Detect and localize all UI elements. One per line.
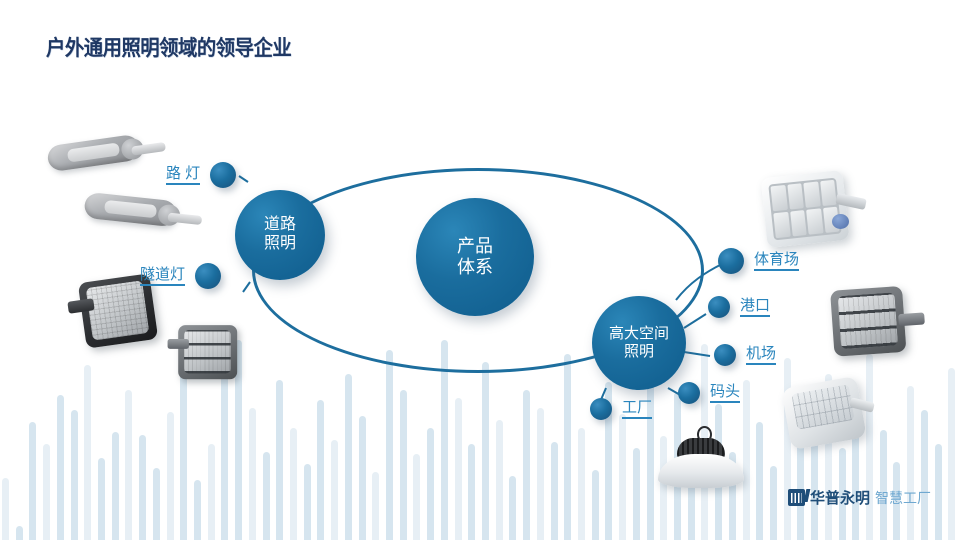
flood-light-icon	[162, 320, 245, 391]
branch-node-label: 高大空间 照明	[609, 325, 669, 360]
logo-company-name: 华普永明	[810, 487, 870, 508]
flood-light-icon	[816, 285, 913, 365]
branch-node-high-bay-lighting[interactable]: 高大空间 照明	[592, 296, 686, 390]
sub-item-label: 路 灯	[166, 165, 200, 185]
bullet-dot-icon	[678, 382, 700, 404]
sub-item-label: 工厂	[622, 399, 652, 419]
bullet-dot-icon	[210, 162, 236, 188]
page-title: 户外通用照明领域的领导企业	[46, 32, 291, 62]
bullet-dot-icon	[590, 398, 612, 420]
product-high-bay-light	[658, 424, 744, 492]
center-node-label: 产品 体系	[457, 236, 493, 278]
ufo-high-bay-icon	[658, 424, 744, 492]
building-bars-icon	[788, 489, 805, 506]
sub-item-label: 隧道灯	[140, 266, 185, 286]
product-white-flood-light	[782, 378, 878, 454]
slide-canvas: 户外通用照明领域的领导企业 产品 体系 道路 照明 高大空间 照明 路 灯 隧道…	[0, 0, 960, 540]
product-gray-flood-light	[816, 285, 913, 365]
flood-light-icon	[782, 378, 878, 454]
sub-item-label: 码头	[710, 383, 740, 403]
sub-item-label: 港口	[740, 297, 770, 317]
sub-item-high-bay-port[interactable]: 港口	[708, 296, 770, 318]
sub-item-high-bay-wharf[interactable]: 码头	[678, 382, 740, 404]
sub-item-road-tunnel-lamp[interactable]: 隧道灯	[140, 263, 221, 289]
bullet-dot-icon	[718, 248, 744, 274]
bullet-dot-icon	[195, 263, 221, 289]
branch-node-road-lighting[interactable]: 道路 照明	[235, 190, 325, 280]
sub-item-high-bay-stadium[interactable]: 体育场	[718, 248, 799, 274]
product-tunnel-light-2	[162, 320, 245, 391]
sub-item-high-bay-factory[interactable]: 工厂	[590, 398, 652, 420]
bullet-dot-icon	[714, 344, 736, 366]
sub-item-road-street-lamp[interactable]: 路 灯	[166, 162, 236, 188]
sub-item-label: 体育场	[754, 251, 799, 271]
flood-light-icon	[68, 278, 160, 352]
stadium-flood-light-icon	[760, 170, 868, 254]
center-node-product-system[interactable]: 产品 体系	[416, 198, 534, 316]
bullet-dot-icon	[708, 296, 730, 318]
branch-node-label: 道路 照明	[264, 216, 296, 254]
product-tunnel-light-1	[68, 278, 160, 352]
company-logo: 华普永明 智慧工厂	[788, 487, 931, 508]
sub-item-label: 机场	[746, 345, 776, 365]
logo-sub-name: 智慧工厂	[875, 488, 931, 508]
product-stadium-light	[760, 170, 868, 254]
sub-item-high-bay-airport[interactable]: 机场	[714, 344, 776, 366]
